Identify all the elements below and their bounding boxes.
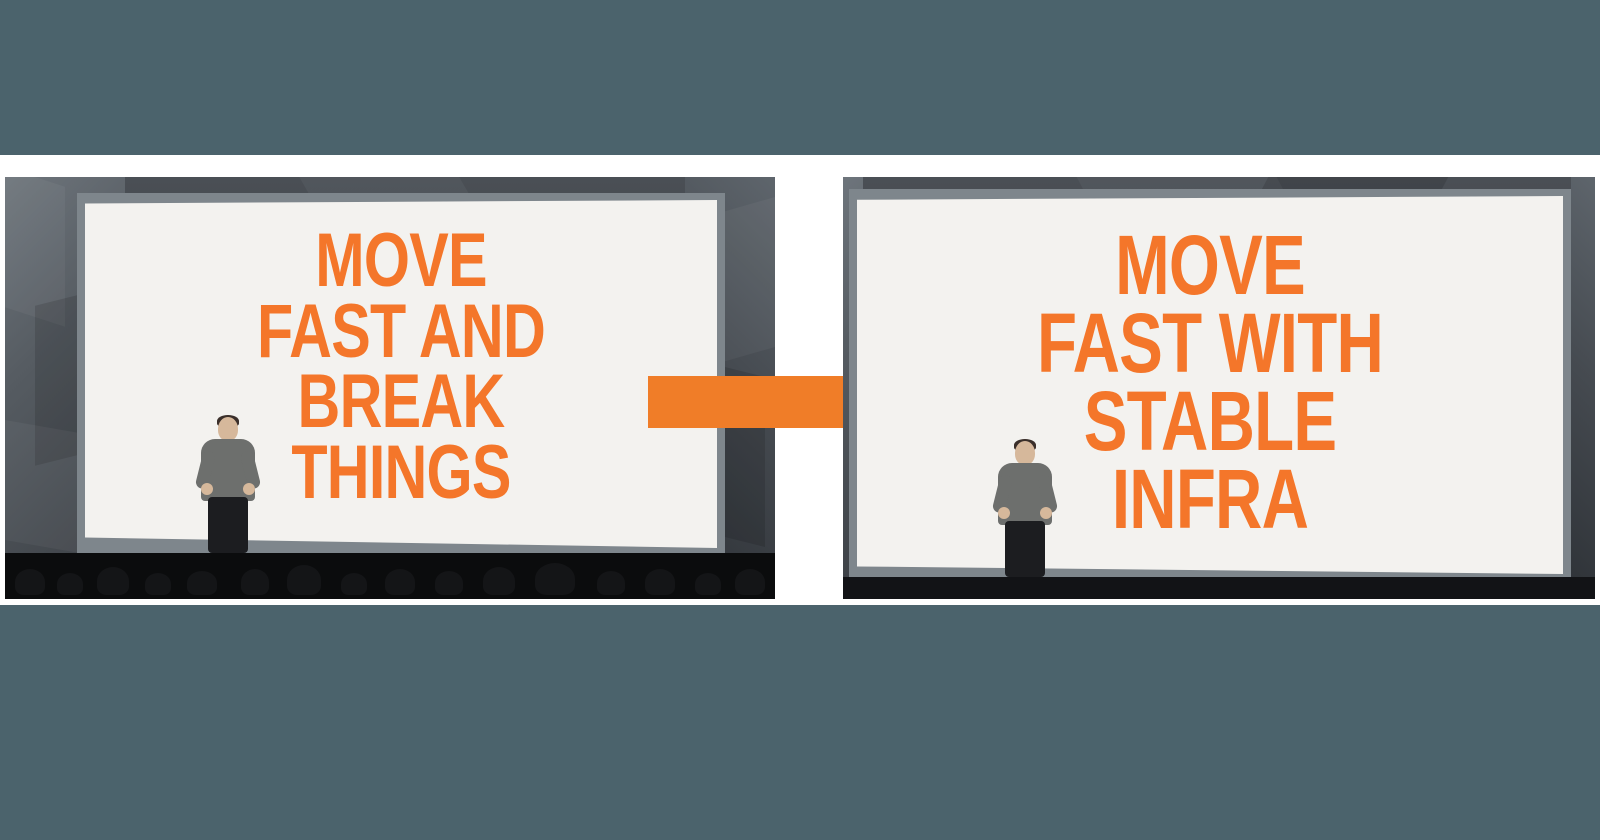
slide-line-2: FAST WITH	[935, 304, 1486, 382]
speaker-hand-right	[243, 483, 255, 495]
audience-head	[287, 565, 321, 595]
audience-head	[187, 571, 217, 595]
keynote-speaker	[998, 441, 1052, 581]
speaker-legs	[208, 497, 248, 553]
audience-head	[15, 569, 45, 595]
audience-head	[483, 567, 515, 595]
wall-facet	[5, 420, 85, 554]
speaker-hand-left	[998, 507, 1010, 519]
stage-floor	[843, 577, 1595, 599]
audience-head	[597, 571, 625, 595]
keynote-slide-after: MOVE FAST WITH STABLE INFRA	[843, 177, 1595, 599]
keynote-speaker	[201, 417, 255, 557]
speaker-hand-left	[201, 483, 213, 495]
audience-head	[341, 573, 367, 595]
speaker-hand-right	[1040, 507, 1052, 519]
slide-line-2: FAST AND	[155, 297, 648, 368]
audience-head	[145, 573, 171, 595]
audience-head	[241, 569, 269, 595]
audience-silhouettes	[5, 553, 775, 599]
arrow-shaft	[648, 376, 873, 428]
slide-line-1: MOVE	[935, 226, 1486, 304]
projection-screen: MOVE FAST WITH STABLE INFRA	[857, 196, 1563, 574]
wall-facet-right	[1571, 177, 1595, 599]
audience-head	[645, 569, 675, 595]
projection-screen: MOVE FAST AND BREAK THINGS	[85, 200, 717, 548]
audience-head	[385, 569, 415, 595]
audience-head	[435, 571, 463, 595]
audience-head	[57, 573, 83, 595]
speaker-head	[1015, 441, 1035, 465]
audience-head	[695, 573, 721, 595]
slide-line-1: MOVE	[155, 226, 648, 297]
audience-head	[97, 567, 129, 595]
speaker-legs	[1005, 521, 1045, 577]
speaker-head	[218, 417, 238, 441]
audience-head	[735, 569, 765, 595]
image-root: MOVE FAST AND BREAK THINGS	[0, 0, 1600, 840]
camera-operator	[535, 563, 575, 595]
